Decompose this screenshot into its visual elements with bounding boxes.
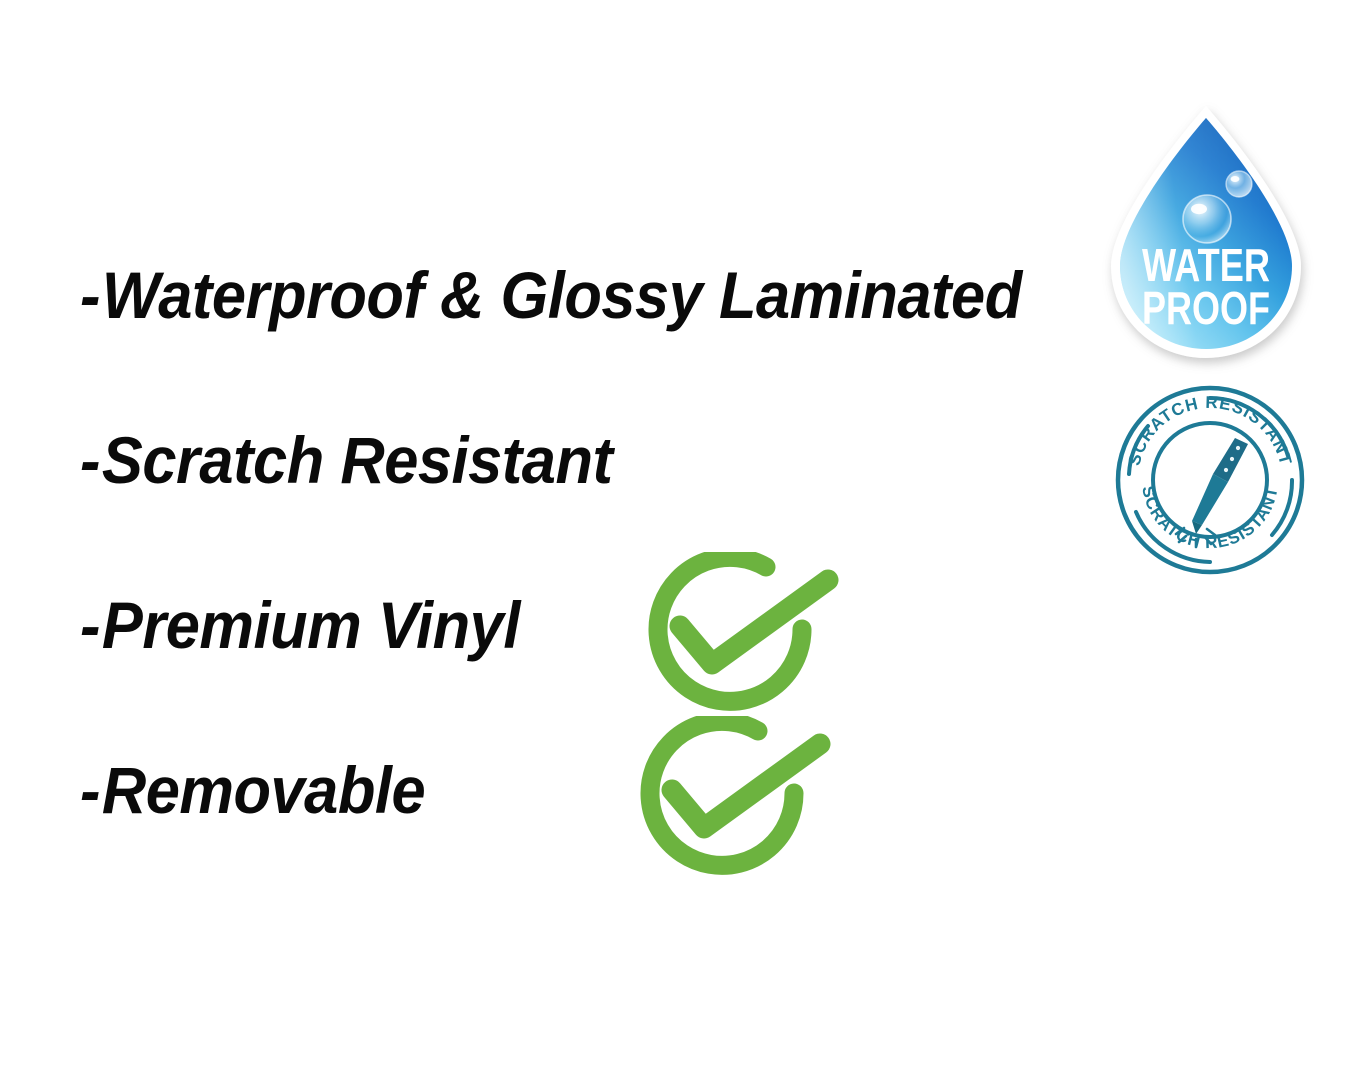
water-bubble-large-icon <box>1183 195 1231 243</box>
water-drop-icon: WATER PROOF <box>1096 100 1316 380</box>
check-circle-icon <box>640 552 840 720</box>
knife-blade <box>1192 474 1228 525</box>
scratch-badge-text-top: SCRATCH RESISTANT <box>1125 393 1296 468</box>
scratch-badge-text-top-path: SCRATCH RESISTANT <box>1125 393 1296 468</box>
feature-item-scratch-resistant: -Scratch Resistant <box>80 427 612 493</box>
waterproof-badge: WATER PROOF <box>1096 100 1316 380</box>
bullet-dash: - <box>80 757 100 823</box>
feature-label: Waterproof & Glossy Laminated <box>102 258 1022 332</box>
bullet-dash: - <box>80 427 100 493</box>
knife-rivet <box>1230 457 1234 461</box>
feature-item-removable: -Removable <box>80 757 425 823</box>
feature-callout-canvas: -Waterproof & Glossy Laminated -Scratch … <box>0 0 1359 1080</box>
knife-rivet <box>1224 468 1228 472</box>
check-circle-icon <box>632 716 832 884</box>
feature-label: Scratch Resistant <box>102 423 613 497</box>
bullet-dash: - <box>80 262 100 328</box>
check-circle-icon-svg <box>632 716 832 884</box>
feature-label: Premium Vinyl <box>102 588 520 662</box>
feature-item-premium-vinyl: -Premium Vinyl <box>80 592 520 658</box>
feature-item-waterproof-glossy-laminated: -Waterproof & Glossy Laminated <box>80 262 1022 328</box>
water-bubble-small-glint <box>1231 176 1240 182</box>
feature-label: Removable <box>102 753 425 827</box>
knife-rivet <box>1236 446 1240 450</box>
knife-scratch-icon: SCRATCH RESISTANT SCRATCH RESISTANT <box>1112 382 1308 578</box>
waterproof-line2: PROOF <box>1142 282 1270 334</box>
feature-list: -Waterproof & Glossy Laminated -Scratch … <box>0 0 1100 1080</box>
water-bubble-small-icon <box>1226 171 1252 197</box>
check-circle-icon-svg <box>640 552 840 720</box>
scratch-resistant-badge: SCRATCH RESISTANT SCRATCH RESISTANT <box>1112 382 1308 578</box>
water-bubble-large-glint <box>1191 204 1207 214</box>
bullet-dash: - <box>80 592 100 658</box>
